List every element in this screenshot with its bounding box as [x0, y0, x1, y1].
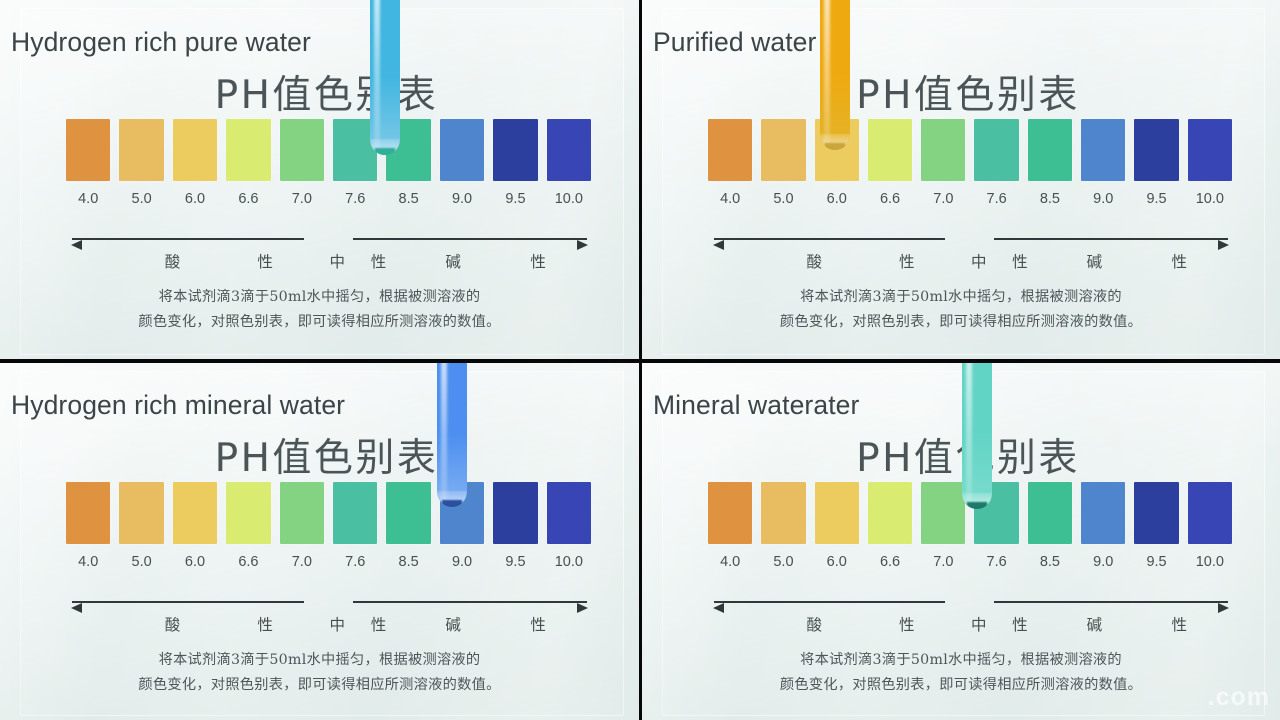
color-swatch — [1028, 119, 1072, 181]
ph-zone-label: 中 — [971, 613, 987, 635]
ph-zone-labels-2: 酸性中性碱性 — [714, 250, 1228, 274]
ph-value-label: 6.0 — [173, 554, 217, 574]
acid-arrow-line-2 — [714, 238, 945, 240]
ph-zone-label: 性 — [1171, 613, 1187, 635]
ph-zone-label: 酸 — [807, 613, 823, 635]
instruction-note-3: 将本试剂滴3滴于50ml水中摇匀，根据被测溶液的 颜色变化，对照色别表，即可读得… — [0, 648, 639, 698]
ph-value-label: 4.0 — [66, 191, 110, 211]
acid-arrow-line-1 — [72, 238, 304, 240]
panel-hydrogen-rich-mineral-water: Hydrogen rich mineral water PH值色别表 4.05.… — [0, 363, 639, 720]
instruction-line-2a: 将本试剂滴3滴于50ml水中摇匀，根据被测溶液的 — [642, 285, 1280, 310]
instruction-note-2: 将本试剂滴3滴于50ml水中摇匀，根据被测溶液的 颜色变化，对照色别表，即可读得… — [642, 285, 1280, 335]
color-swatch — [173, 482, 217, 544]
color-swatch — [921, 482, 965, 544]
ph-zone-label: 性 — [899, 250, 915, 272]
ph-value-label: 6.6 — [226, 554, 270, 574]
color-swatch-strip-1 — [66, 119, 591, 181]
ph-zone-label: 性 — [530, 613, 546, 635]
ph-zone-label: 酸 — [165, 613, 181, 635]
instruction-line-1b: 颜色变化，对照色别表，即可读得相应所测溶液的数值。 — [0, 310, 639, 335]
color-swatch — [1134, 482, 1178, 544]
ph-value-label: 8.5 — [1028, 554, 1072, 574]
acid-arrow-line-3 — [72, 601, 304, 603]
color-swatch — [761, 482, 805, 544]
ph-value-label: 6.0 — [815, 191, 859, 211]
ph-value-label: 9.5 — [1134, 191, 1178, 211]
alkali-arrow-line-3 — [353, 601, 587, 603]
arrow-left-head-icon-1 — [71, 240, 82, 250]
color-swatch — [493, 482, 537, 544]
arrow-right-head-icon-1 — [577, 240, 588, 250]
color-swatch — [173, 119, 217, 181]
color-swatch — [333, 482, 377, 544]
panel-title-4: Mineral waterater — [653, 390, 859, 421]
test-tube-4 — [962, 363, 992, 509]
ph-value-label: 9.5 — [1134, 554, 1178, 574]
color-swatch — [280, 482, 324, 544]
ph-value-label: 6.0 — [815, 554, 859, 574]
ph-zone-label: 性 — [371, 250, 387, 272]
test-tube-gloss-1 — [374, 0, 380, 149]
ph-zone-label: 性 — [1012, 250, 1028, 272]
ph-axis-3 — [72, 595, 587, 609]
color-swatch — [868, 119, 912, 181]
ph-value-label: 4.0 — [708, 554, 752, 574]
ph-value-label: 7.0 — [280, 191, 324, 211]
ph-zone-label: 性 — [1171, 250, 1187, 272]
instruction-line-4a: 将本试剂滴3滴于50ml水中摇匀，根据被测溶液的 — [642, 648, 1280, 673]
color-swatch — [1081, 119, 1125, 181]
test-tube-gloss-4 — [966, 363, 972, 503]
arrow-left-head-icon-4 — [713, 603, 724, 613]
instruction-line-2b: 颜色变化，对照色别表，即可读得相应所测溶液的数值。 — [642, 310, 1280, 335]
color-swatch — [66, 482, 110, 544]
color-swatch — [66, 119, 110, 181]
color-swatch — [1188, 119, 1232, 181]
ph-axis-2 — [714, 232, 1228, 246]
acid-arrow-line-4 — [714, 601, 945, 603]
ph-zone-label: 碱 — [445, 613, 461, 635]
color-swatch — [119, 482, 163, 544]
ph-zone-label: 碱 — [445, 250, 461, 272]
color-swatch — [761, 119, 805, 181]
ph-value-label: 9.0 — [1081, 554, 1125, 574]
ph-zone-label: 性 — [371, 613, 387, 635]
ph-axis-4 — [714, 595, 1228, 609]
arrow-right-head-icon-2 — [1218, 240, 1229, 250]
panel-title-1: Hydrogen rich pure water — [11, 27, 311, 58]
ph-value-label: 7.6 — [333, 554, 377, 574]
color-swatch — [280, 119, 324, 181]
color-swatch — [1134, 119, 1178, 181]
ph-value-label: 10.0 — [547, 191, 591, 211]
test-tube-gloss-2 — [824, 0, 830, 144]
ph-zone-label: 性 — [1012, 613, 1028, 635]
ph-value-label: 7.0 — [921, 554, 965, 574]
arrow-left-head-icon-2 — [713, 240, 724, 250]
quad-panel-grid: Hydrogen rich pure water PH值色别表 4.05.06.… — [0, 0, 1280, 720]
ph-value-label: 9.5 — [493, 554, 537, 574]
test-tube-3 — [437, 363, 467, 507]
ph-value-label: 5.0 — [119, 554, 163, 574]
color-swatch-strip-3 — [66, 482, 591, 544]
ph-value-label: 7.6 — [333, 191, 377, 211]
ph-zone-label: 性 — [257, 250, 273, 272]
instruction-note-4: 将本试剂滴3滴于50ml水中摇匀，根据被测溶液的 颜色变化，对照色别表，即可读得… — [642, 648, 1280, 698]
test-tube-drop-2 — [825, 143, 845, 150]
arrow-right-head-icon-4 — [1218, 603, 1229, 613]
panel-hydrogen-rich-pure-water: Hydrogen rich pure water PH值色别表 4.05.06.… — [0, 0, 639, 359]
ph-value-labels-1: 4.05.06.06.67.07.68.59.09.510.0 — [66, 191, 591, 211]
ph-value-label: 10.0 — [1188, 191, 1232, 211]
color-swatch — [1188, 482, 1232, 544]
ph-zone-labels-4: 酸性中性碱性 — [714, 613, 1228, 637]
ph-value-label: 6.6 — [226, 191, 270, 211]
chart-heading-1: PH值色别表 — [0, 64, 639, 120]
ph-value-label: 7.0 — [280, 554, 324, 574]
arrow-left-head-icon-3 — [71, 603, 82, 613]
ph-zone-label: 中 — [330, 613, 346, 635]
panel-purified-water: Purified water PH值色别表 4.05.06.06.67.07.6… — [642, 0, 1280, 359]
ph-zone-labels-1: 酸性中性碱性 — [72, 250, 587, 274]
ph-value-label: 10.0 — [547, 554, 591, 574]
ph-zone-label: 性 — [530, 250, 546, 272]
instruction-line-3a: 将本试剂滴3滴于50ml水中摇匀，根据被测溶液的 — [0, 648, 639, 673]
ph-value-label: 5.0 — [761, 554, 805, 574]
ph-value-labels-4: 4.05.06.06.67.07.68.59.09.510.0 — [708, 554, 1232, 574]
alkali-arrow-line-1 — [353, 238, 587, 240]
ph-value-labels-3: 4.05.06.06.67.07.68.59.09.510.0 — [66, 554, 591, 574]
test-tube-gloss-3 — [441, 363, 447, 501]
ph-axis-1 — [72, 232, 587, 246]
ph-zone-label: 酸 — [165, 250, 181, 272]
ph-zone-label: 性 — [257, 613, 273, 635]
color-swatch — [547, 119, 591, 181]
alkali-arrow-line-2 — [994, 238, 1228, 240]
ph-value-label: 8.5 — [1028, 191, 1072, 211]
ph-value-label: 8.5 — [386, 554, 430, 574]
color-swatch — [815, 482, 859, 544]
ph-value-label: 10.0 — [1188, 554, 1232, 574]
color-swatch — [974, 119, 1018, 181]
ph-value-label: 4.0 — [708, 191, 752, 211]
color-swatch — [708, 119, 752, 181]
ph-value-label: 6.0 — [173, 191, 217, 211]
test-tube-drop-4 — [967, 502, 987, 509]
ph-value-label: 9.0 — [440, 554, 484, 574]
panel-title-2: Purified water — [653, 27, 816, 58]
instruction-line-1a: 将本试剂滴3滴于50ml水中摇匀，根据被测溶液的 — [0, 285, 639, 310]
ph-value-label: 7.6 — [974, 191, 1018, 211]
panel-mineral-waterater: Mineral waterater PH值色别表 4.05.06.06.67.0… — [642, 363, 1280, 720]
instruction-note-1: 将本试剂滴3滴于50ml水中摇匀，根据被测溶液的 颜色变化，对照色别表，即可读得… — [0, 285, 639, 335]
color-swatch — [868, 482, 912, 544]
arrow-right-head-icon-3 — [577, 603, 588, 613]
color-swatch — [708, 482, 752, 544]
ph-value-label: 4.0 — [66, 554, 110, 574]
color-swatch — [547, 482, 591, 544]
ph-value-labels-2: 4.05.06.06.67.07.68.59.09.510.0 — [708, 191, 1232, 211]
color-swatch — [119, 119, 163, 181]
color-swatch — [921, 119, 965, 181]
ph-value-label: 7.0 — [921, 191, 965, 211]
ph-zone-label: 中 — [971, 250, 987, 272]
ph-zone-label: 酸 — [807, 250, 823, 272]
instruction-line-3b: 颜色变化，对照色别表，即可读得相应所测溶液的数值。 — [0, 673, 639, 698]
ph-zone-label: 碱 — [1087, 250, 1103, 272]
ph-value-label: 8.5 — [386, 191, 430, 211]
color-swatch — [440, 119, 484, 181]
ph-value-label: 6.6 — [868, 554, 912, 574]
ph-value-label: 5.0 — [119, 191, 163, 211]
test-tube-drop-3 — [442, 500, 462, 507]
alkali-arrow-line-4 — [994, 601, 1228, 603]
ph-zone-label: 碱 — [1087, 613, 1103, 635]
color-swatch-strip-2 — [708, 119, 1232, 181]
color-swatch — [1028, 482, 1072, 544]
chart-heading-2: PH值色别表 — [642, 64, 1280, 120]
color-swatch — [226, 119, 270, 181]
ph-value-label: 5.0 — [761, 191, 805, 211]
chart-heading-3: PH值色别表 — [0, 427, 639, 483]
panel-title-3: Hydrogen rich mineral water — [11, 390, 345, 421]
instruction-line-4b: 颜色变化，对照色别表，即可读得相应所测溶液的数值。 — [642, 673, 1280, 698]
color-swatch — [226, 482, 270, 544]
test-tube-1 — [370, 0, 400, 155]
ph-zone-label: 中 — [330, 250, 346, 272]
test-tube-drop-1 — [375, 148, 395, 155]
ph-value-label: 9.0 — [1081, 191, 1125, 211]
test-tube-2 — [820, 0, 850, 150]
chart-heading-4: PH值色别表 — [642, 427, 1280, 483]
ph-value-label: 6.6 — [868, 191, 912, 211]
ph-value-label: 7.6 — [974, 554, 1018, 574]
color-swatch — [386, 482, 430, 544]
color-swatch — [493, 119, 537, 181]
ph-value-label: 9.5 — [493, 191, 537, 211]
ph-zone-label: 性 — [899, 613, 915, 635]
ph-value-label: 9.0 — [440, 191, 484, 211]
color-swatch — [1081, 482, 1125, 544]
ph-zone-labels-3: 酸性中性碱性 — [72, 613, 587, 637]
